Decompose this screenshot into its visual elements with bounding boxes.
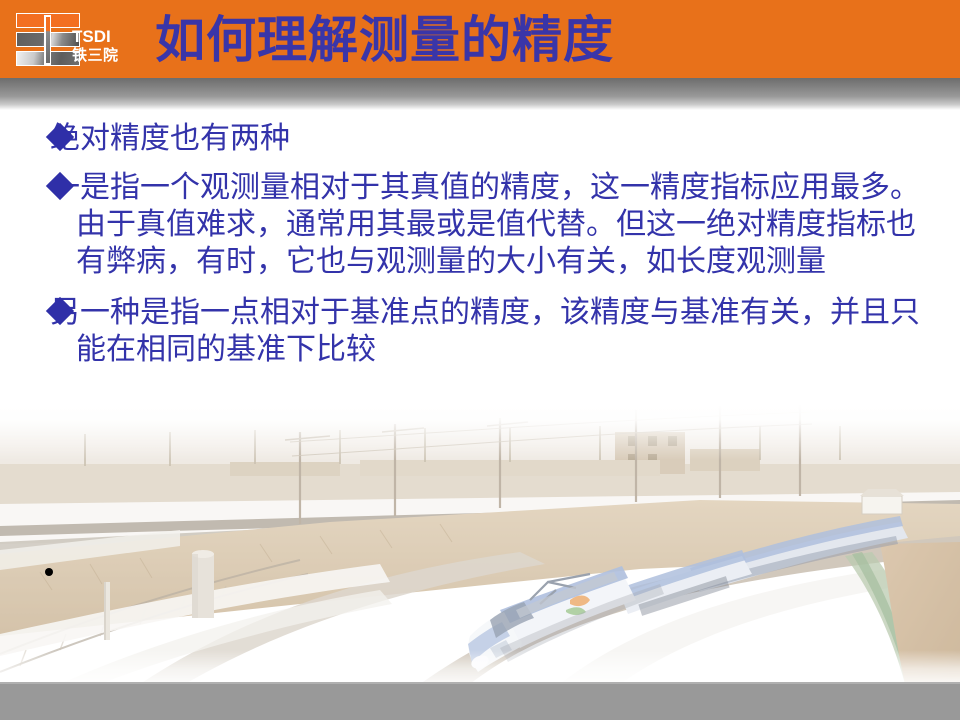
footer-highlight-line [0, 682, 960, 684]
logo-chinese-name-text: 铁三院 [72, 46, 130, 65]
header-gradient-band [0, 78, 960, 110]
slide-body: 绝对精度也有两种 一是指一个观测量相对于其真值的精度，这一精度指标应用最多。由于… [0, 118, 960, 418]
sub-bullet-dot-icon [45, 568, 53, 576]
railway-photo-illustration [0, 404, 960, 684]
slide-canvas: TSDI 铁三院 如何理解测量的精度 绝对精度也有两种 一是指一个观测量相对于其… [0, 0, 960, 720]
bullet-item: 另一种是指一点相对于基准点的精度，该精度与基准有关，并且只能在相同的基准下比较 [0, 294, 960, 368]
footer-bar [0, 682, 960, 720]
logo-stem [46, 17, 50, 63]
railway-photo [0, 404, 960, 684]
bullet-text: 一是指一个观测量相对于其真值的精度，这一精度指标应用最多。由于真值难求，通常用其… [50, 169, 940, 280]
page-title: 如何理解测量的精度 [155, 9, 855, 73]
tsdi-logo: TSDI 铁三院 [14, 11, 126, 71]
bullet-text: 另一种是指一点相对于基准点的精度，该精度与基准有关，并且只能在相同的基准下比较 [50, 294, 940, 368]
logo-wordmark: TSDI 铁三院 [72, 28, 130, 65]
logo-abbr-text: TSDI [72, 28, 130, 46]
bullet-item: 一是指一个观测量相对于其真值的精度，这一精度指标应用最多。由于真值难求，通常用其… [0, 169, 960, 280]
bullet-item: 绝对精度也有两种 [0, 120, 960, 157]
bullet-text: 绝对精度也有两种 [50, 120, 940, 157]
